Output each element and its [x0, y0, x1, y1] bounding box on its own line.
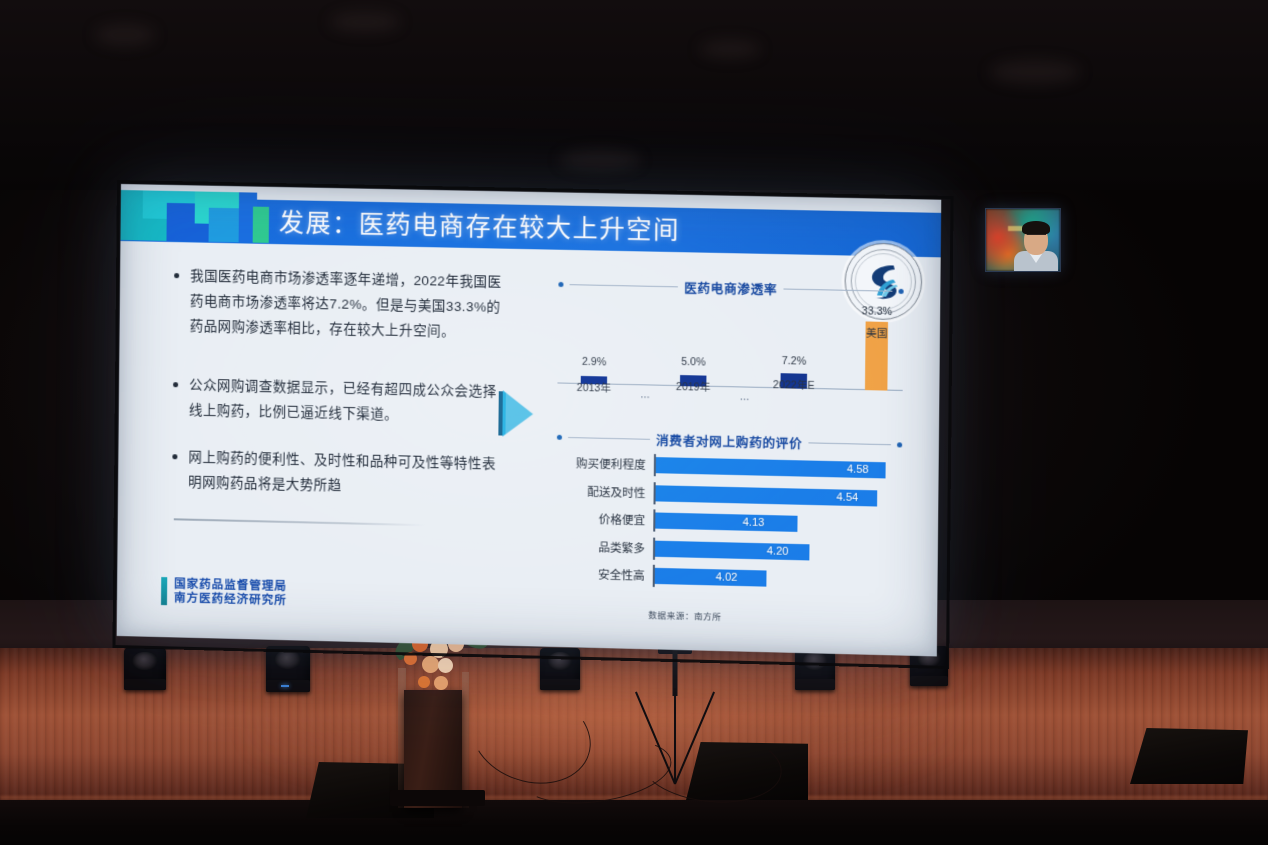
light-lens-icon	[548, 652, 572, 670]
ceiling-fixture	[990, 60, 1080, 84]
hbar-label: 品类繁多	[556, 538, 653, 556]
hbar-value: 4.02	[716, 569, 738, 586]
chart-title: 医药电商渗透率	[684, 277, 777, 298]
hbar-value: 4.20	[767, 543, 789, 560]
column-label: 2019年	[676, 379, 710, 395]
bullet-item: 公众网购调查数据显示，已经有超四成公众会选择线上购药，比例已逼近线下渠道。	[171, 372, 503, 429]
footer-logo: 国家药品监督管理局 南方医药经济研究所	[161, 577, 287, 608]
slide-title: 发展：医药电商存在较大上升空间	[279, 203, 680, 251]
hbar-track: 4.20	[653, 537, 901, 565]
column-value: 5.0%	[681, 356, 705, 369]
hbar-track: 4.54	[653, 482, 901, 510]
hbar-value: 4.54	[836, 489, 858, 506]
hall-ceiling	[0, 0, 1268, 190]
light-base	[910, 676, 948, 686]
chart-title-row: 消费者对网上购药的评价	[557, 428, 902, 455]
hbar-row: 品类繁多 4.20	[556, 535, 901, 565]
hbar-track: 4.13	[653, 509, 901, 537]
light-base	[124, 679, 166, 690]
ceiling-fixture	[560, 150, 640, 170]
title-dot	[897, 442, 902, 447]
decorative-block	[253, 207, 269, 243]
chart-title: 消费者对网上购药的评价	[656, 430, 803, 452]
hbar-label: 价格便宜	[556, 510, 653, 528]
hbar-track: 4.58	[654, 454, 902, 482]
ceiling-fixture	[95, 24, 155, 46]
bullet-item: 我国医药电商市场渗透率逐年递增，2022年我国医药电商市场渗透率将达7.2%。但…	[172, 263, 504, 345]
moving-head-light	[540, 648, 580, 690]
hbar-row: 价格便宜 4.13	[556, 507, 901, 537]
moving-head-light	[795, 648, 835, 690]
column-value: 7.2%	[782, 355, 806, 368]
hbar-row: 安全性高 4.02	[556, 562, 901, 592]
hbar-fill	[655, 512, 797, 531]
title-dot	[899, 289, 904, 294]
moving-head-light	[124, 648, 166, 690]
column-group: 33.3% 美国	[848, 321, 906, 391]
column-label: 2013年	[577, 380, 611, 396]
speaker-video-feed	[985, 208, 1061, 272]
stage-monitor-speaker	[1130, 728, 1248, 784]
chart-source-note: 数据来源：南方所	[648, 609, 721, 623]
projection-screen: 发展：医药电商存在较大上升空间 我国医药电商市场渗透率逐年递增，2022年我国医…	[117, 184, 942, 656]
chart-consumer-rating: 消费者对网上购药的评价 购买便利程度 4.58 配送及时性	[555, 430, 902, 619]
hbar-track: 4.02	[653, 565, 901, 593]
title-rule	[808, 442, 890, 445]
hbar-list: 购买便利程度 4.58 配送及时性 4.54	[555, 452, 902, 599]
hbar-row: 购买便利程度 4.58	[557, 452, 902, 482]
title-dot	[557, 435, 562, 440]
light-base	[795, 679, 835, 690]
stage-front-apron	[0, 800, 1268, 845]
light-base	[540, 679, 580, 690]
speaker-hair	[1022, 221, 1050, 235]
hbar-label: 购买便利程度	[557, 455, 654, 473]
flower	[434, 676, 448, 690]
bullet-item: 网上购药的便利性、及时性和品种可及性等特性表明网购药品将是大势所趋	[170, 444, 502, 502]
light-lens-icon	[275, 650, 301, 669]
speaker-glasses-icon	[1027, 234, 1046, 240]
footer-accent-bar	[161, 577, 167, 605]
column-label: 2022年E	[773, 377, 815, 393]
flower	[418, 676, 430, 688]
hbar-row: 配送及时性 4.54	[556, 479, 901, 509]
play-arrow-icon	[496, 390, 537, 437]
column-label: 美国	[866, 326, 888, 342]
ceiling-fixture	[330, 12, 400, 32]
hbar-value: 4.13	[743, 514, 765, 531]
light-lens-icon	[132, 652, 157, 670]
title-rule	[570, 284, 679, 287]
axis-ellipsis: ⋯	[740, 394, 751, 405]
title-dot	[558, 282, 563, 287]
slide-bullet-list: 我国医药电商市场渗透率逐年递增，2022年我国医药电商市场渗透率将达7.2%。但…	[170, 263, 504, 524]
column-group: 7.2% 2022年E	[760, 373, 827, 390]
light-status-led	[281, 685, 289, 687]
flower	[422, 656, 439, 673]
hbar-fill	[655, 568, 767, 587]
moving-head-light	[266, 646, 310, 692]
footer-logo-line2: 南方医药经济研究所	[174, 591, 287, 608]
footer-logo-text: 国家药品监督管理局 南方医药经济研究所	[174, 577, 287, 608]
column-group: 2.9% 2013年	[564, 376, 625, 385]
flower	[438, 658, 453, 673]
column-group: 5.0% 2019年	[663, 375, 724, 387]
hbar-value: 4.58	[847, 461, 869, 478]
column-value: 2.9%	[582, 356, 606, 369]
hbar-label: 配送及时性	[556, 483, 653, 501]
column-value: 33.3%	[862, 305, 892, 318]
hbar-label: 安全性高	[556, 565, 653, 583]
chart-penetration: 医药电商渗透率 2.9% 2013年 ⋯ 5.0% 2019年 ⋯	[557, 275, 903, 413]
axis-ellipsis: ⋯	[640, 392, 651, 403]
conference-hall-scene: 发展：医药电商存在较大上升空间 我国医药电商市场渗透率逐年递增，2022年我国医…	[0, 0, 1268, 845]
ceiling-fixture	[700, 40, 760, 58]
title-rule	[568, 437, 650, 440]
arrow-triangle-highlight	[505, 392, 534, 435]
light-lens-icon	[803, 652, 827, 670]
title-rule	[783, 289, 892, 292]
presentation-slide: 发展：医药电商存在较大上升空间 我国医药电商市场渗透率逐年递增，2022年我国医…	[117, 184, 942, 656]
flower	[404, 652, 417, 665]
podium-base	[390, 790, 485, 806]
